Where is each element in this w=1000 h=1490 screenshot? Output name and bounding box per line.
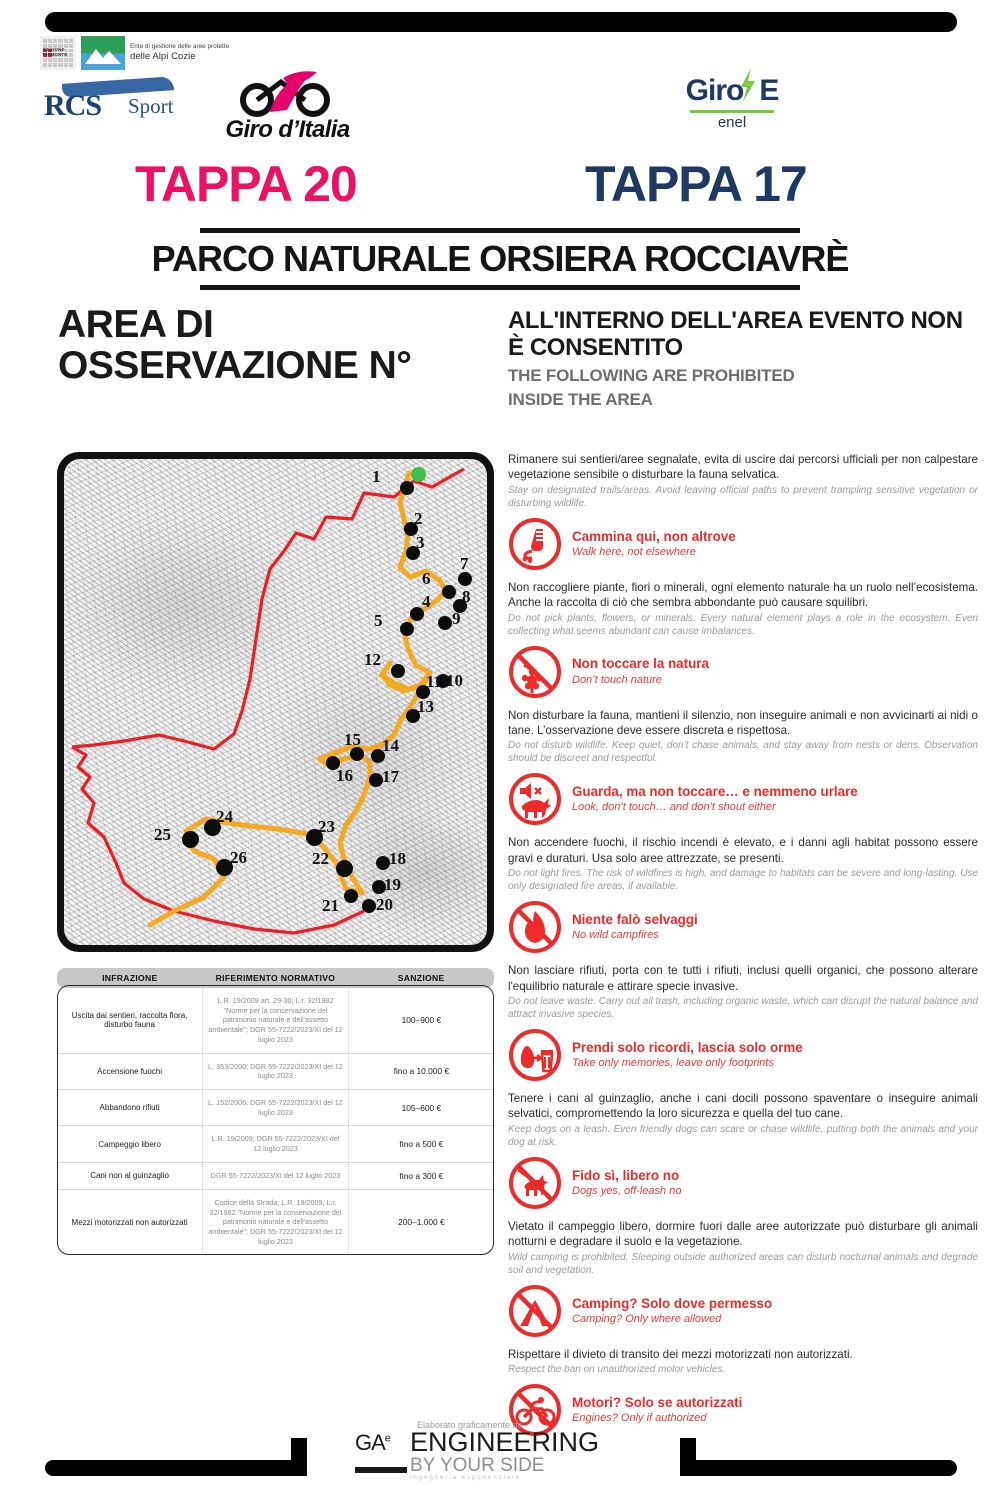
rule-badge-en: No wild campfires [572, 929, 698, 942]
map-marker-label-4: 4 [422, 592, 431, 612]
col-riferimento: RIFERIMENTO NORMATIVO [203, 968, 349, 988]
rule-text-it: Tenere i cani al guinzaglio, anche i can… [508, 1091, 978, 1122]
rule-badge-en: Dogs yes, off-leash no [572, 1185, 681, 1198]
footer-byyourside: BY YOUR SIDE [410, 1456, 599, 1475]
rule-badge-it: Fido sì, libero no [572, 1168, 681, 1184]
map-marker-17[interactable] [369, 773, 383, 787]
rule-badge-it: Prendi solo ricordi, lascia solo orme [572, 1040, 803, 1056]
rule-badge-en: Look, don’t touch… and don’t shout eithe… [572, 801, 858, 814]
area-heading: AREA DI OSSERVAZIONE N° [58, 305, 498, 386]
regione-piemonte-logo: REGIONE PIEMONTE Ente di gestione delle … [40, 36, 229, 70]
rule-block-5: Non lasciare rifiuti, porta con te tutti… [508, 963, 978, 1082]
rule-badge-it: Guarda, ma non toccare… e nemmeno urlare [572, 784, 858, 800]
rule-text-en: Do not disturb wildlife. Keep quiet, don… [508, 739, 978, 765]
rule-text-it: Rispettare il divieto di transito dei me… [508, 1347, 978, 1362]
table-cell-infrazione: Accensione fuochi [57, 1053, 203, 1089]
map-marker-label-12: 12 [364, 650, 381, 670]
table-row: Mezzi motorizzati non autorizzatiCodice … [57, 1189, 494, 1254]
map-marker-label-9: 9 [452, 609, 461, 629]
map-marker-9[interactable] [438, 616, 452, 630]
rule-badge-en: Don’t touch nature [572, 674, 709, 687]
table-cell-infrazione: Campeggio libero [57, 1126, 203, 1162]
top-decorative-bar [45, 12, 957, 32]
rule-text-it: Vietato il campeggio libero, dormire fuo… [508, 1219, 978, 1250]
rcs-wordmark: RCS [44, 89, 101, 123]
map-marker-label-2: 2 [414, 509, 423, 529]
gae-text: GA [355, 1430, 385, 1455]
observation-map[interactable]: 1234567891011121314151617181920212223242… [57, 452, 494, 952]
rule-badge-it: Motori? Solo se autorizzati [572, 1395, 742, 1411]
title-divider-bottom [200, 285, 800, 290]
col-sanzione: SANZIONE [348, 968, 494, 988]
rule-badge: Non toccare la naturaDon’t touch nature [508, 645, 978, 699]
bottom-bar-left [45, 1460, 307, 1476]
rule-text-en: Stay on designated trails/areas. Avoid l… [508, 484, 978, 510]
map-marker-label-17: 17 [382, 767, 399, 787]
map-marker-18[interactable] [376, 856, 390, 870]
rule-block-7: Vietato il campeggio libero, dormire fuo… [508, 1219, 978, 1338]
footer-engineering: ENGINEERING [410, 1430, 599, 1456]
map-marker-4[interactable] [442, 585, 456, 599]
map-marker-20[interactable] [362, 899, 376, 913]
prohibited-heading-en-2: INSIDE THE AREA [508, 390, 978, 410]
table-cell-infrazione: Mezzi motorizzati non autorizzati [57, 1189, 203, 1254]
no-fire-icon [508, 900, 562, 954]
table-cell-sanzione: fino a 10.000 € [348, 1053, 494, 1089]
map-marker-label-22: 22 [312, 849, 329, 869]
footer-credit: Elaborato graficamente da GAe ENGINEERIN… [355, 1420, 645, 1481]
giro-wordmark: Giro d’Italia [225, 116, 350, 144]
map-marker-label-8: 8 [462, 587, 471, 607]
rule-badge-en: Take only memories, leave only footprint… [572, 1057, 803, 1070]
table-cell-sanzione: 200–1.000 € [348, 1189, 494, 1254]
gae-logo-mark: GAe [355, 1430, 407, 1475]
rule-badge: Niente falò selvaggiNo wild campfires [508, 900, 978, 954]
map-marker-label-5: 5 [374, 611, 383, 631]
map-marker-label-14: 14 [382, 736, 399, 756]
table-cell-sanzione: fino a 500 € [348, 1126, 494, 1162]
map-marker-label-3: 3 [416, 533, 425, 553]
map-marker-label-13: 13 [417, 697, 434, 717]
table-cell-infrazione: Uscita dai sentieri, raccolta flora, dis… [57, 988, 203, 1053]
fines-table-wrap: INFRAZIONE RIFERIMENTO NORMATIVO SANZION… [57, 968, 494, 1255]
rule-text-en: Do not leave waste. Carry out all trash,… [508, 995, 978, 1021]
rule-badge-it: Niente falò selvaggi [572, 912, 698, 928]
regione-badge-line2: PIEMONTE [43, 52, 68, 57]
rule-badge-it: Camping? Solo dove permesso [572, 1296, 772, 1312]
no-noise-wildlife-icon [508, 772, 562, 826]
gae-sup: e [385, 1433, 390, 1445]
map-marker-1[interactable] [400, 481, 414, 495]
alpi-cozie-mountain-icon [81, 36, 125, 70]
regione-dots-mark: REGIONE PIEMONTE [40, 36, 76, 70]
map-marker-7[interactable] [458, 572, 472, 586]
giro-ditalia-logo: Giro d’Italia [225, 70, 350, 144]
giro-e-logo: GiroE enel [672, 74, 792, 131]
prohibited-heading-block: ALL'INTERNO DELL'AREA EVENTO NON È CONSE… [508, 308, 978, 410]
rule-badge: Fido sì, libero noDogs yes, off-leash no [508, 1156, 978, 1210]
rule-block-6: Tenere i cani al guinzaglio, anche i can… [508, 1091, 978, 1210]
stage-titles: TAPPA 20 TAPPA 17 [0, 155, 1000, 213]
gae-bar [355, 1467, 407, 1473]
bottom-bar-right [680, 1460, 957, 1476]
boot-footprint-icon [508, 517, 562, 571]
table-cell-riferimento: DGR 55-7222/2023/XI del 12 luglio 2023 [203, 1162, 349, 1189]
rule-badge: Cammina qui, non altroveWalk here, not e… [508, 517, 978, 571]
rules-column: Rimanere sui sentieri/aree segnalate, ev… [508, 452, 978, 1446]
fines-table: INFRAZIONE RIFERIMENTO NORMATIVO SANZION… [57, 968, 494, 1255]
map-canvas[interactable]: 1234567891011121314151617181920212223242… [64, 459, 487, 945]
rule-block-3: Non disturbare la fauna, mantieni il sil… [508, 708, 978, 827]
giroe-word: Giro [686, 74, 744, 107]
rule-badge: Guarda, ma non toccare… e nemmeno urlare… [508, 772, 978, 826]
rule-text-en: Respect the ban on unauthorized motor ve… [508, 1363, 978, 1376]
ente-line2: delle Alpi Cozie [130, 51, 229, 63]
map-marker-label-25: 25 [154, 825, 171, 845]
lightning-bolt-icon [738, 68, 758, 110]
no-tent-icon [508, 1284, 562, 1338]
map-marker-label-6: 6 [422, 569, 431, 589]
rule-badge-it: Cammina qui, non altrove [572, 529, 736, 545]
rule-block-1: Rimanere sui sentieri/aree segnalate, ev… [508, 452, 978, 571]
tappa-20-title: TAPPA 20 [135, 155, 357, 213]
rule-text-it: Rimanere sui sentieri/aree segnalate, ev… [508, 452, 978, 483]
rule-text-en: Do not pick plants, flowers, or minerals… [508, 612, 978, 638]
rule-text-en: Wild camping is prohibited. Sleeping out… [508, 1251, 978, 1277]
start-point-marker [411, 467, 426, 482]
table-cell-sanzione: fino a 300 € [348, 1162, 494, 1189]
giroe-underline [690, 110, 774, 113]
table-cell-riferimento: L. 353/2000; DGR 55-7222/2023/XI del 12 … [203, 1053, 349, 1089]
map-marker-label-23: 23 [318, 817, 335, 837]
map-marker-6[interactable] [410, 607, 424, 621]
bottom-bar-left-vertical [291, 1438, 307, 1476]
map-marker-label-11: 11 [426, 672, 442, 692]
map-marker-label-16: 16 [336, 766, 353, 786]
table-header-row: INFRAZIONE RIFERIMENTO NORMATIVO SANZION… [57, 968, 494, 988]
table-row: Uscita dai sentieri, raccolta flora, dis… [57, 988, 494, 1053]
map-marker-22[interactable] [336, 860, 353, 877]
map-marker-25[interactable] [182, 831, 199, 848]
table-cell-riferimento: L.R. 19/2009 art. 29-30; L.r. 32/1982 "N… [203, 988, 349, 1053]
table-row: Accensione fuochiL. 353/2000; DGR 55-722… [57, 1053, 494, 1089]
rule-badge: Camping? Solo dove permessoCamping? Only… [508, 1284, 978, 1338]
rule-text-it: Non disturbare la fauna, mantieni il sil… [508, 708, 978, 739]
rule-badge-en: Walk here, not elsewhere [572, 546, 736, 559]
map-marker-21[interactable] [344, 889, 358, 903]
col-infrazione: INFRAZIONE [57, 968, 203, 988]
rule-block-2: Non raccogliere piante, fiori o minerali… [508, 580, 978, 699]
table-cell-infrazione: Abbandono rifiuti [57, 1090, 203, 1126]
poster-page: REGIONE PIEMONTE Ente di gestione delle … [0, 0, 1000, 1490]
map-marker-label-1: 1 [372, 467, 381, 487]
map-marker-label-10: 10 [446, 671, 463, 691]
ente-line1: Ente di gestione delle aree protette [130, 43, 229, 51]
rcs-sport-logo: RCS Sport [40, 78, 180, 120]
no-offleash-dog-icon [508, 1156, 562, 1210]
map-marker-5[interactable] [400, 622, 414, 636]
tappa-17-title: TAPPA 17 [585, 155, 807, 213]
rule-text-it: Non accendere fuochi, il rischio incendi… [508, 835, 978, 866]
rule-text-it: Non raccogliere piante, fiori o minerali… [508, 580, 978, 611]
giroe-letter: E [759, 74, 778, 107]
map-marker-label-19: 19 [384, 875, 401, 895]
table-row: Campeggio liberoL.R. 19/2009; DGR 55-722… [57, 1126, 494, 1162]
rule-text-it: Non lasciare rifiuti, porta con te tutti… [508, 963, 978, 994]
map-marker-label-7: 7 [460, 554, 469, 574]
rule-badge-en: Camping? Only where allowed [572, 1313, 772, 1326]
footer-tagline: ingegneria esponenziale [410, 1475, 599, 1481]
prohibited-heading-en-1: THE FOLLOWING ARE PROHIBITED [508, 366, 978, 386]
enel-wordmark: enel [672, 114, 792, 131]
map-marker-label-24: 24 [216, 807, 233, 827]
no-picking-flower-icon [508, 645, 562, 699]
table-cell-riferimento: L. 152/2006; DGR 55-7222/2023/XI del 12 … [203, 1090, 349, 1126]
rcs-sport-word: Sport [128, 94, 174, 119]
table-cell-sanzione: 105–600 € [348, 1090, 494, 1126]
giro-bicycle-icon [225, 70, 350, 118]
map-marker-label-15: 15 [344, 730, 361, 750]
trash-bag-bin-icon [508, 1028, 562, 1082]
bottom-bar-right-vertical [680, 1438, 696, 1476]
table-row: Cani non al guinzaglioDGR 55-7222/2023/X… [57, 1162, 494, 1189]
table-cell-infrazione: Cani non al guinzaglio [57, 1162, 203, 1189]
rule-text-en: Do not light fires. The risk of wildfire… [508, 867, 978, 893]
prohibited-heading-it: ALL'INTERNO DELL'AREA EVENTO NON È CONSE… [508, 308, 978, 362]
map-marker-label-26: 26 [230, 848, 247, 868]
rule-block-4: Non accendere fuochi, il rischio incendi… [508, 835, 978, 954]
map-marker-label-20: 20 [376, 895, 393, 915]
rule-badge: Prendi solo ricordi, lascia solo ormeTak… [508, 1028, 978, 1082]
table-cell-sanzione: 100–900 € [348, 988, 494, 1053]
park-name-title: PARCO NATURALE ORSIERA ROCCIAVRÈ [0, 238, 1000, 280]
table-cell-riferimento: Codice della Strada; L.R. 19/2009; L.r. … [203, 1189, 349, 1254]
table-row: Abbandono rifiutiL. 152/2006; DGR 55-722… [57, 1090, 494, 1126]
table-cell-riferimento: L.R. 19/2009; DGR 55-7222/2023/XI del 12… [203, 1126, 349, 1162]
map-marker-12[interactable] [391, 664, 405, 678]
map-marker-label-21: 21 [322, 896, 339, 916]
map-marker-label-18: 18 [389, 849, 406, 869]
title-divider-top [200, 228, 800, 233]
rule-badge-it: Non toccare la natura [572, 656, 709, 672]
rule-text-en: Keep dogs on a leash. Even friendly dogs… [508, 1123, 978, 1149]
